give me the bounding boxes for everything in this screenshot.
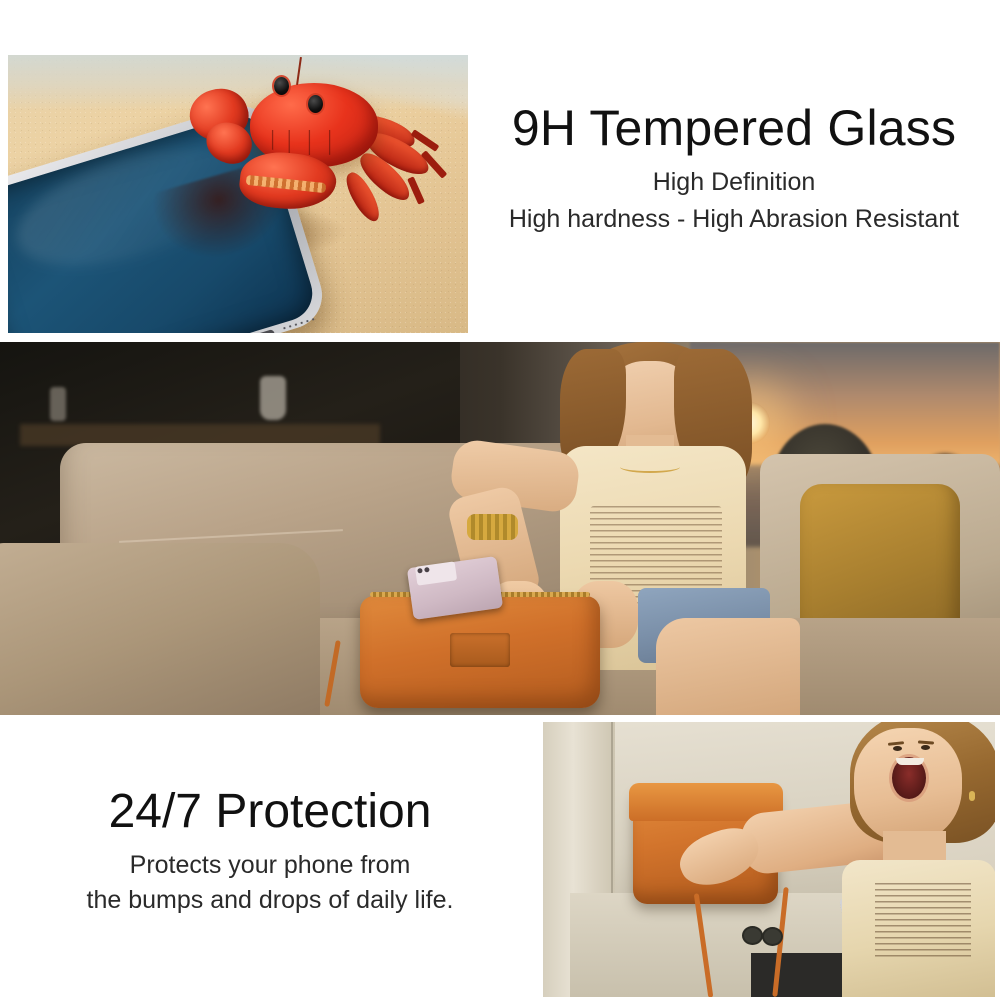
gold-bracelet [467, 514, 518, 540]
bag-logo-tag [450, 633, 510, 667]
shirt-print-text [875, 883, 971, 957]
subtitle-protects-phone: Protects your phone from [20, 851, 520, 880]
eye [921, 745, 930, 750]
image-living-room-sunset [0, 342, 1000, 715]
crab-leg-tip [411, 129, 440, 152]
subtitle-high-hardness: High hardness - High Abrasion Resistant [468, 205, 1000, 234]
leg [656, 618, 800, 715]
subtitle-high-definition: High Definition [468, 168, 1000, 197]
crab [178, 61, 448, 276]
vase [260, 376, 286, 420]
image-crab-phone [8, 55, 468, 333]
subtitle-bumps-drops: the bumps and drops of daily life. [20, 886, 520, 915]
eye [893, 746, 902, 751]
crab-antenna [296, 57, 302, 85]
crab-eye [308, 95, 323, 113]
sunglasses [742, 926, 801, 948]
sofa-seam [611, 722, 613, 920]
couch-seam [119, 529, 343, 543]
sunglass-lens [762, 927, 783, 946]
image-dropped-bag [543, 722, 995, 997]
headline-protection: 24/7 Protection [20, 786, 520, 839]
eyebrow [888, 741, 904, 746]
earring [969, 791, 975, 801]
teeth [896, 758, 924, 765]
sunglass-lens [742, 926, 763, 945]
product-feature-banner: 9H Tempered Glass High Definition High h… [0, 0, 1000, 1000]
crab-eye [274, 77, 289, 95]
couch-armrest [0, 543, 320, 715]
eyebrow [918, 740, 934, 744]
feature-text-protection: 24/7 Protection Protects your phone from… [20, 786, 520, 915]
surprised-woman [796, 722, 995, 997]
feature-text-tempered-glass: 9H Tempered Glass High Definition High h… [468, 100, 1000, 234]
headline-tempered-glass: 9H Tempered Glass [468, 100, 1000, 156]
face [854, 728, 962, 842]
crab-leg-tip [407, 176, 425, 204]
vase [50, 387, 66, 421]
